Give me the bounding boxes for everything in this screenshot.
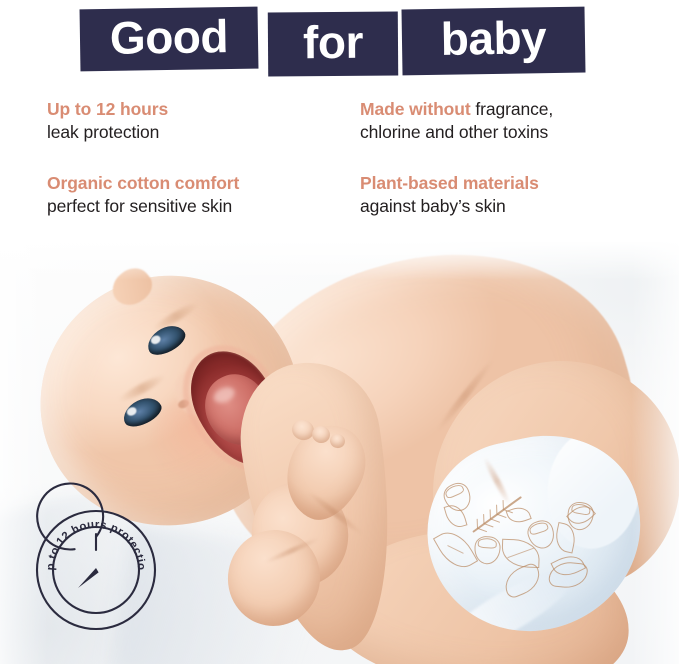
feature-headline: Made without fragrance,: [360, 98, 660, 121]
feature-headline-rest: fragrance,: [471, 99, 554, 119]
feature-headline: Plant-based materials: [360, 172, 660, 195]
feature-item-leak-protection: Up to 12 hours leak protection: [47, 98, 347, 144]
feature-item-organic-cotton: Organic cotton comfort perfect for sensi…: [47, 172, 347, 218]
feature-item-plant-based: Plant-based materials against baby’s ski…: [360, 172, 660, 218]
headline-word-baby: baby: [440, 14, 546, 62]
feature-headline-accent: Plant-based materials: [360, 173, 539, 193]
headline-block-for: for: [268, 12, 398, 77]
headline-word-for: for: [303, 19, 363, 65]
headline-block-baby: baby: [401, 7, 585, 76]
headline-word-good: Good: [110, 13, 229, 61]
feature-item-made-without: Made without fragrance, chlorine and oth…: [360, 98, 660, 144]
protection-badge: up to 12 hours protection: [34, 508, 158, 632]
clock-dial-icon: up to 12 hours protection: [34, 508, 158, 632]
feature-list: Up to 12 hours leak protection Made with…: [0, 94, 679, 242]
product-feature-panel: Good for baby Up to 12 hours leak protec…: [0, 0, 679, 664]
feature-subline: perfect for sensitive skin: [47, 195, 347, 218]
feature-subline: chlorine and other toxins: [360, 121, 660, 144]
feature-headline-accent: Made without: [360, 99, 471, 119]
feature-headline-accent: Organic cotton comfort: [47, 173, 239, 193]
badge-clock-hand: [78, 568, 99, 588]
feature-subline: leak protection: [47, 121, 347, 144]
feature-headline-accent: Up to 12 hours: [47, 99, 168, 119]
feature-subline: against baby’s skin: [360, 195, 660, 218]
leaf-motif: [433, 525, 478, 575]
feature-headline: Up to 12 hours: [47, 98, 347, 121]
headline-block-good: Good: [80, 7, 259, 72]
headline: Good for baby: [0, 0, 679, 92]
feature-headline: Organic cotton comfort: [47, 172, 347, 195]
